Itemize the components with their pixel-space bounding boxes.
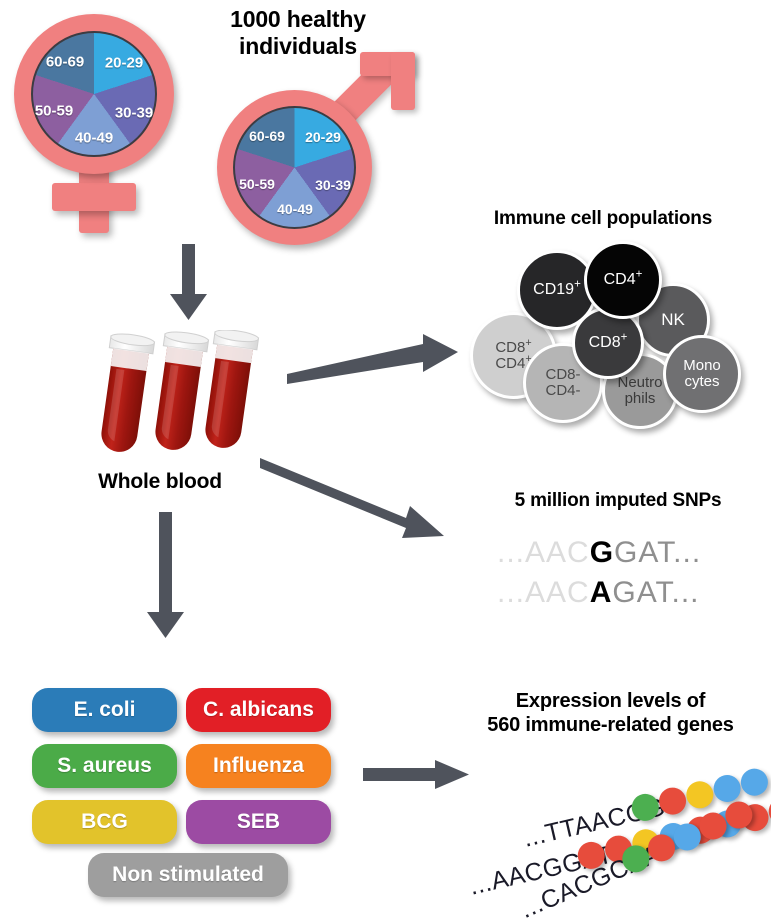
male-pie-label-40-49: 40-49 <box>277 201 313 217</box>
stimulus-pill-seb[interactable]: SEB <box>186 800 331 844</box>
female-pie-label-40-49: 40-49 <box>75 130 113 147</box>
snp-seq-1-prefix: ...AAC <box>497 536 590 569</box>
arrow-cohort-to-blood <box>166 244 212 322</box>
cell-circle-monocytes: Monocytes <box>663 335 741 413</box>
cell-label-cd8p: CD8+ <box>589 335 628 352</box>
male-symbol-arrowhead-vertical <box>391 52 415 110</box>
expression-bead <box>684 779 716 811</box>
cell-label-monocytes: Monocytes <box>683 358 721 390</box>
male-pie-label-20-29: 20-29 <box>305 129 341 145</box>
blood-tube-2 <box>149 330 209 453</box>
stimulus-pill-s-aureus[interactable]: S. aureus <box>32 744 177 788</box>
snp-seq-1-variant: G <box>590 536 614 569</box>
stimulus-pill-e-coli[interactable]: E. coli <box>32 688 177 732</box>
immune-cell-cluster: CD8+CD4+ CD19+ CD4+ CD8-CD4- CD8+ NK Neu… <box>450 235 770 425</box>
expression-heading-line-1: Expression levels of <box>458 690 763 714</box>
cell-circle-cd8p: CD8+ <box>572 307 644 379</box>
expression-strands: ...TTAACGG ...AACGGAT ...CACGCAA <box>440 740 771 922</box>
female-symbol-crossbar <box>52 183 136 211</box>
arrow-blood-to-immune <box>285 328 460 388</box>
blood-tube-1 <box>95 332 155 455</box>
cell-label-cd4p: CD4+ <box>604 272 643 289</box>
blood-tube-3 <box>199 330 259 451</box>
snp-sequence-row-1: ...AACGGAT... <box>497 536 701 570</box>
stimulus-pill-c-albicans[interactable]: C. albicans <box>186 688 331 732</box>
cell-label-nk: NK <box>661 311 685 329</box>
male-pie-label-30-39: 30-39 <box>315 177 351 193</box>
figure-canvas: 1000 healthy individuals 20-29 30-39 40-… <box>0 0 771 922</box>
stimulus-pill-influenza[interactable]: Influenza <box>186 744 331 788</box>
male-pie-label-50-59: 50-59 <box>239 176 275 192</box>
expression-bead <box>711 772 743 804</box>
expression-heading-line-2: 560 immune-related genes <box>458 714 763 738</box>
cell-label-cd8n-cd4n: CD8-CD4- <box>545 367 580 399</box>
expression-bead <box>738 766 770 798</box>
arrow-blood-to-snps <box>258 438 448 544</box>
snps-heading: 5 million imputed SNPs <box>478 490 758 512</box>
whole-blood-label: Whole blood <box>70 470 250 495</box>
snp-seq-2-suffix: GAT... <box>612 576 699 609</box>
snp-sequence-row-2: ...AACAGAT... <box>497 576 700 610</box>
male-pie-label-60-69: 60-69 <box>249 128 285 144</box>
female-pie-label-60-69: 60-69 <box>46 54 84 71</box>
immune-heading: Immune cell populations <box>448 208 758 230</box>
cell-label-cd19p: CD19+ <box>533 282 581 299</box>
cell-label-neutrophils: Neutrophils <box>617 375 662 407</box>
cell-circle-cd4p: CD4+ <box>584 241 662 319</box>
stimulus-pill-non-stimulated[interactable]: Non stimulated <box>88 853 288 897</box>
snp-seq-2-variant: A <box>590 576 613 609</box>
whole-blood-tubes <box>95 330 270 460</box>
stimulus-pill-bcg[interactable]: BCG <box>32 800 177 844</box>
expression-heading: Expression levels of 560 immune-related … <box>458 690 763 737</box>
female-pie-label-20-29: 20-29 <box>105 55 143 72</box>
snp-seq-2-prefix: ...AAC <box>497 576 590 609</box>
female-gender-symbol: 20-29 30-39 40-49 50-59 60-69 <box>8 8 188 238</box>
female-pie-label-50-59: 50-59 <box>35 103 73 120</box>
female-pie-label-30-39: 30-39 <box>115 105 153 122</box>
cohort-heading-line-1: 1000 healthy <box>168 6 428 33</box>
arrow-blood-to-stimuli <box>143 512 189 640</box>
male-gender-symbol: 20-29 30-39 40-49 50-59 60-69 <box>205 45 415 250</box>
snp-seq-1-suffix: GAT... <box>614 536 701 569</box>
